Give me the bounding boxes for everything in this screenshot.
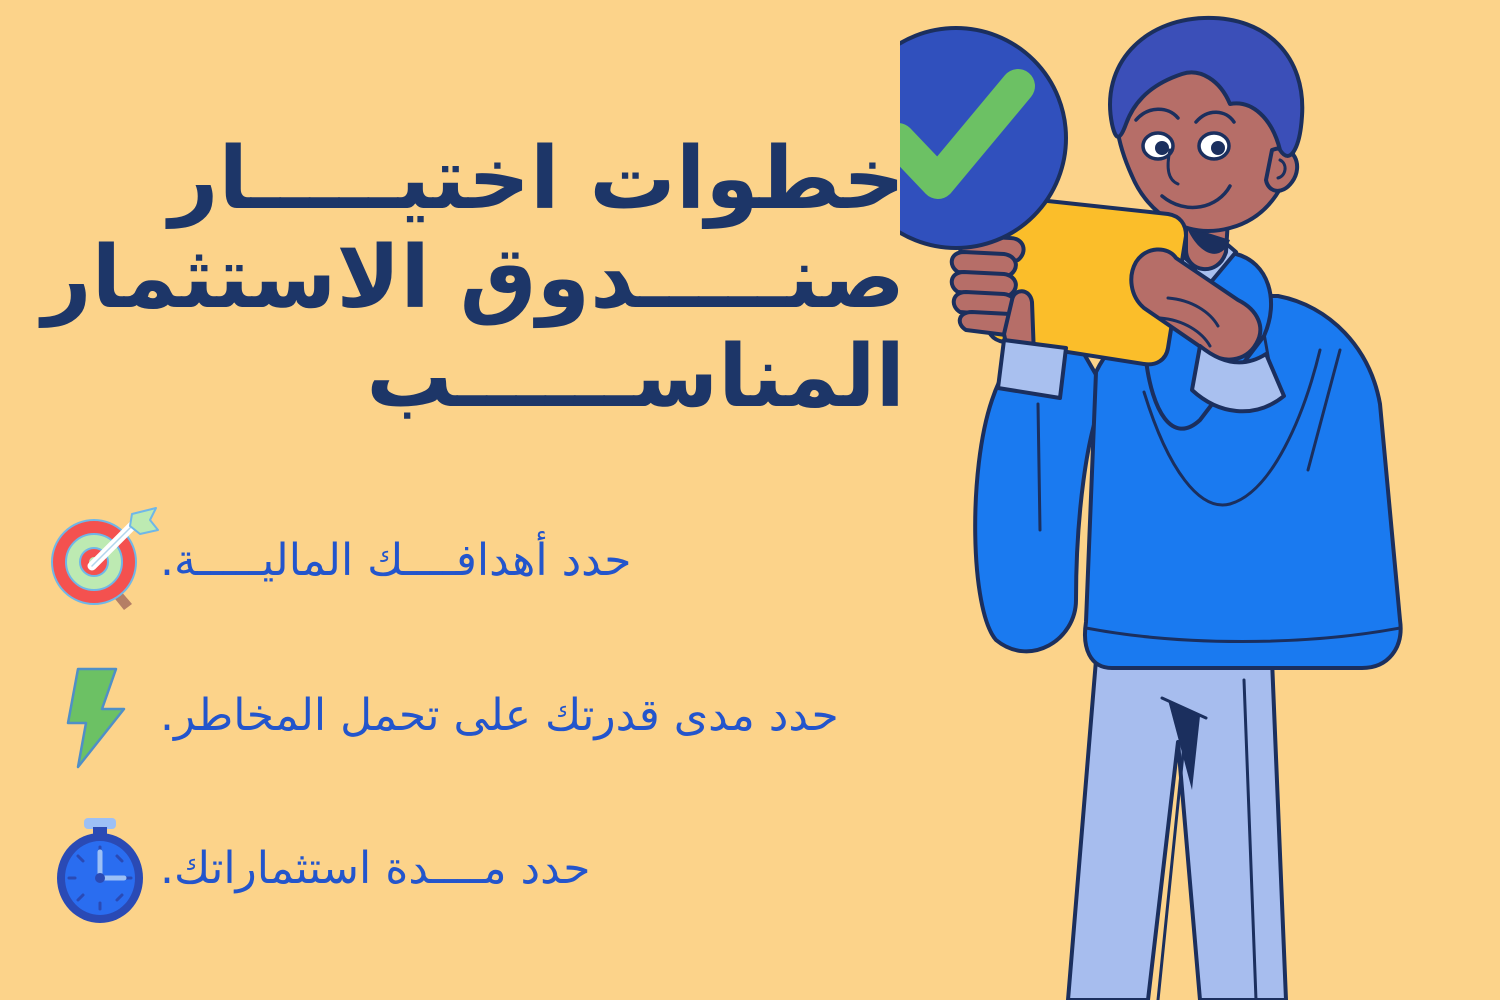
stopwatch-icon (40, 808, 160, 928)
list-item-label: حدد مــــدة استثماراتك. (160, 841, 590, 896)
man-holding-tablet-illustration (900, 0, 1500, 1000)
title-line-3: المناســــــب (60, 328, 905, 427)
list-item-financial-goals: حدد أهدافــــك الماليـــــة. (40, 500, 900, 620)
cuff-left (998, 340, 1066, 398)
lightning-bolt-icon (40, 655, 160, 775)
list-item-label: حدد مدى قدرتك على تحمل المخاطر. (160, 688, 839, 743)
list-item-risk-tolerance: حدد مدى قدرتك على تحمل المخاطر. (40, 655, 900, 775)
list-item-investment-period: حدد مــــدة استثماراتك. (40, 808, 900, 928)
title-line-2: صنـــــدوق الاستثمار (60, 229, 905, 328)
title-line-1: خطوات اختيـــــار (60, 130, 905, 229)
target-dart-icon (40, 500, 160, 620)
poster-canvas: خطوات اختيـــــار صنـــــدوق الاستثمار ا… (0, 0, 1500, 1000)
list-item-label: حدد أهدافــــك الماليـــــة. (160, 533, 631, 588)
page-title: خطوات اختيـــــار صنـــــدوق الاستثمار ا… (60, 130, 905, 427)
